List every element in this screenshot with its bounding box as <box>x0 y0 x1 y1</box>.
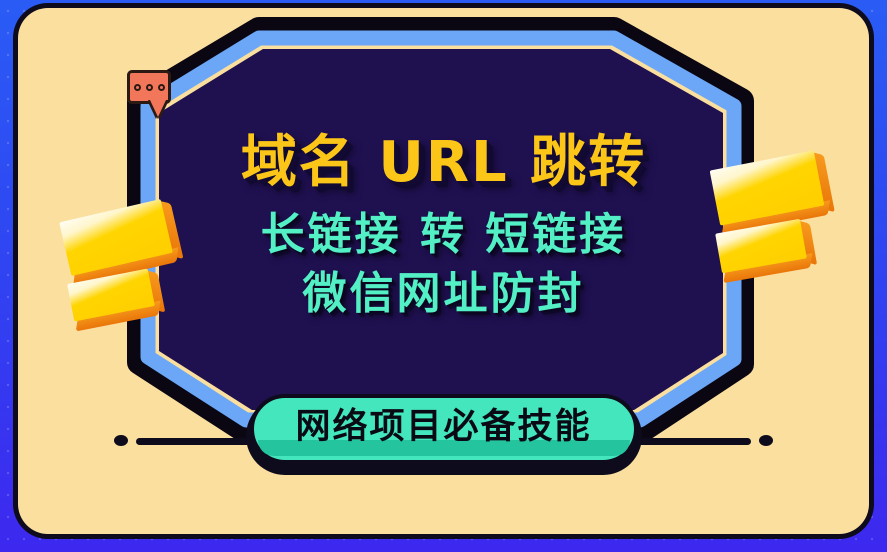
panel-navy-fill <box>159 49 723 410</box>
bubble-dot-3 <box>158 84 165 91</box>
footer-badge-group: 网络项目必备技能 <box>18 386 869 476</box>
bubble-dot-1 <box>134 84 141 91</box>
status-badge-label: 网络项目必备技能 <box>295 406 591 447</box>
poster-canvas: 域名 URL 跳转 长链接 转 短链接 微信网址防封 网络项目必备技能 <box>0 0 887 552</box>
bubble-tail <box>150 100 166 117</box>
cream-card: 域名 URL 跳转 长链接 转 短链接 微信网址防封 网络项目必备技能 <box>18 8 869 534</box>
rule-dot-right <box>759 435 773 446</box>
rule-dot-left <box>114 435 128 446</box>
chat-bubble-ellipsis-icon <box>127 70 171 104</box>
bubble-dot-2 <box>146 84 153 91</box>
poster-stage: 域名 URL 跳转 长链接 转 短链接 微信网址防封 网络项目必备技能 <box>18 8 869 534</box>
status-badge: 网络项目必备技能 <box>249 394 637 464</box>
